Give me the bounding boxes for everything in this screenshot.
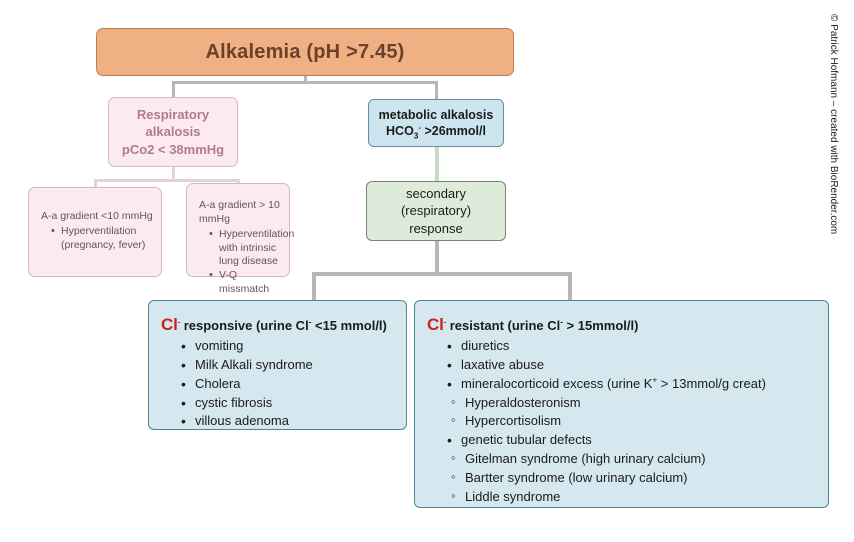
cl-resistant-heading-tail: > 15mmol/l) bbox=[563, 318, 639, 333]
list-item: Cholera bbox=[181, 375, 396, 394]
cl-responsive-list: vomiting Milk Alkali syndrome Cholera cy… bbox=[161, 337, 396, 431]
connector-to-cl-resistant bbox=[568, 272, 572, 302]
connector-metabolic-to-secondary bbox=[435, 147, 439, 183]
aa-gradient-low-heading: A-a gradient <10 mmHg bbox=[39, 210, 153, 224]
cl-responsive-heading-tail: <15 mmol/l) bbox=[311, 318, 387, 333]
node-secondary-response-label: secondary (respiratory) response bbox=[401, 185, 471, 237]
cl-symbol: Cl bbox=[427, 315, 444, 334]
cl-resistant-heading: Cl- resistant (urine Cl- > 15mmol/l) bbox=[427, 315, 818, 335]
node-metabolic-alkalosis[interactable]: metabolic alkalosis HCO3- >26mmol/l bbox=[368, 99, 504, 147]
aa-gradient-high-list: Hyperventilation with intrinsic lung dis… bbox=[197, 228, 283, 297]
cl-resistant-heading-rest: resistant (urine Cl bbox=[446, 318, 560, 333]
diagram-canvas: Alkalemia (pH >7.45) Respiratory alkalos… bbox=[0, 0, 854, 542]
node-respiratory-alkalosis-label: Respiratory alkalosis pCo2 < 38mmHg bbox=[122, 106, 224, 157]
credit-container: © Patrick Hofmann – created with BioRend… bbox=[828, 14, 850, 294]
list-item: Hyperventilation with intrinsic lung dis… bbox=[211, 228, 283, 270]
list-item: genetic tubular defects bbox=[447, 431, 818, 450]
mineralo-text-a: mineralocorticoid excess (urine K bbox=[461, 376, 652, 391]
list-item: Bartter syndrome (low urinary calcium) bbox=[451, 469, 818, 488]
hco3-suffix: >26mmol/l bbox=[421, 124, 486, 138]
genetic-defects-list: genetic tubular defects bbox=[427, 431, 818, 450]
hco3-subscript: 3 bbox=[414, 132, 419, 141]
list-item: cystic fibrosis bbox=[181, 394, 396, 413]
list-item: V-Q missmatch bbox=[211, 269, 283, 297]
hco3-prefix: HCO bbox=[386, 124, 414, 138]
metabolic-line2: HCO3- >26mmol/l bbox=[386, 124, 486, 138]
secondary-line3: response bbox=[409, 221, 462, 236]
aa-gradient-high-heading: A-a gradient > 10 mmHg bbox=[197, 199, 283, 227]
connector-respiratory-bar bbox=[94, 179, 240, 182]
list-item: mineralocorticoid excess (urine K+ > 13m… bbox=[447, 375, 818, 394]
list-item: Gitelman syndrome (high urinary calcium) bbox=[451, 450, 818, 469]
respiratory-line3: pCo2 < 38mmHg bbox=[122, 142, 224, 157]
secondary-line2: (respiratory) bbox=[401, 203, 471, 218]
list-item: villous adenoma bbox=[181, 412, 396, 431]
metabolic-line1: metabolic alkalosis bbox=[379, 108, 494, 122]
respiratory-line2: alkalosis bbox=[146, 124, 201, 139]
list-item: Liddle syndrome bbox=[451, 488, 818, 507]
node-cl-resistant[interactable]: Cl- resistant (urine Cl- > 15mmol/l) diu… bbox=[414, 300, 829, 508]
respiratory-line1: Respiratory bbox=[137, 107, 209, 122]
secondary-line1: secondary bbox=[406, 186, 466, 201]
node-metabolic-alkalosis-label: metabolic alkalosis HCO3- >26mmol/l bbox=[379, 107, 494, 140]
node-cl-responsive[interactable]: Cl- responsive (urine Cl- <15 mmol/l) vo… bbox=[148, 300, 407, 430]
connector-to-cl-responsive bbox=[312, 272, 316, 302]
list-item: diuretics bbox=[447, 337, 818, 356]
connector-to-metabolic bbox=[435, 81, 438, 101]
mineralocorticoid-sublist: Hyperaldosteronism Hypercortisolism bbox=[427, 394, 818, 432]
connector-cl-bar bbox=[312, 272, 572, 276]
genetic-defects-sublist: Gitelman syndrome (high urinary calcium)… bbox=[427, 450, 818, 507]
cl-responsive-heading: Cl- responsive (urine Cl- <15 mmol/l) bbox=[161, 315, 396, 335]
cl-responsive-heading-rest: responsive (urine Cl bbox=[180, 318, 309, 333]
node-aa-gradient-low[interactable]: A-a gradient <10 mmHg Hyperventilation (… bbox=[28, 187, 162, 277]
list-item: Milk Alkali syndrome bbox=[181, 356, 396, 375]
list-item: vomiting bbox=[181, 337, 396, 356]
mineralo-text-b: > 13mmol/g creat) bbox=[657, 376, 766, 391]
list-item: laxative abuse bbox=[447, 356, 818, 375]
list-item: Hypercortisolism bbox=[451, 412, 818, 431]
node-alkalemia-label: Alkalemia (pH >7.45) bbox=[205, 41, 404, 64]
connector-secondary-stem bbox=[435, 241, 439, 274]
cl-symbol: Cl bbox=[161, 315, 178, 334]
credit-text: © Patrick Hofmann – created with BioRend… bbox=[828, 14, 839, 234]
node-secondary-response[interactable]: secondary (respiratory) response bbox=[366, 181, 506, 241]
cl-resistant-list: diuretics laxative abuse mineralocortico… bbox=[427, 337, 818, 394]
node-respiratory-alkalosis[interactable]: Respiratory alkalosis pCo2 < 38mmHg bbox=[108, 97, 238, 167]
connector-root-bar bbox=[172, 81, 438, 84]
list-item: Hyperaldosteronism bbox=[451, 394, 818, 413]
list-item: Hyperventilation (pregnancy, fever) bbox=[53, 225, 153, 253]
node-aa-gradient-high[interactable]: A-a gradient > 10 mmHg Hyperventilation … bbox=[186, 183, 290, 277]
node-alkalemia[interactable]: Alkalemia (pH >7.45) bbox=[96, 28, 514, 76]
aa-gradient-low-list: Hyperventilation (pregnancy, fever) bbox=[39, 225, 153, 253]
